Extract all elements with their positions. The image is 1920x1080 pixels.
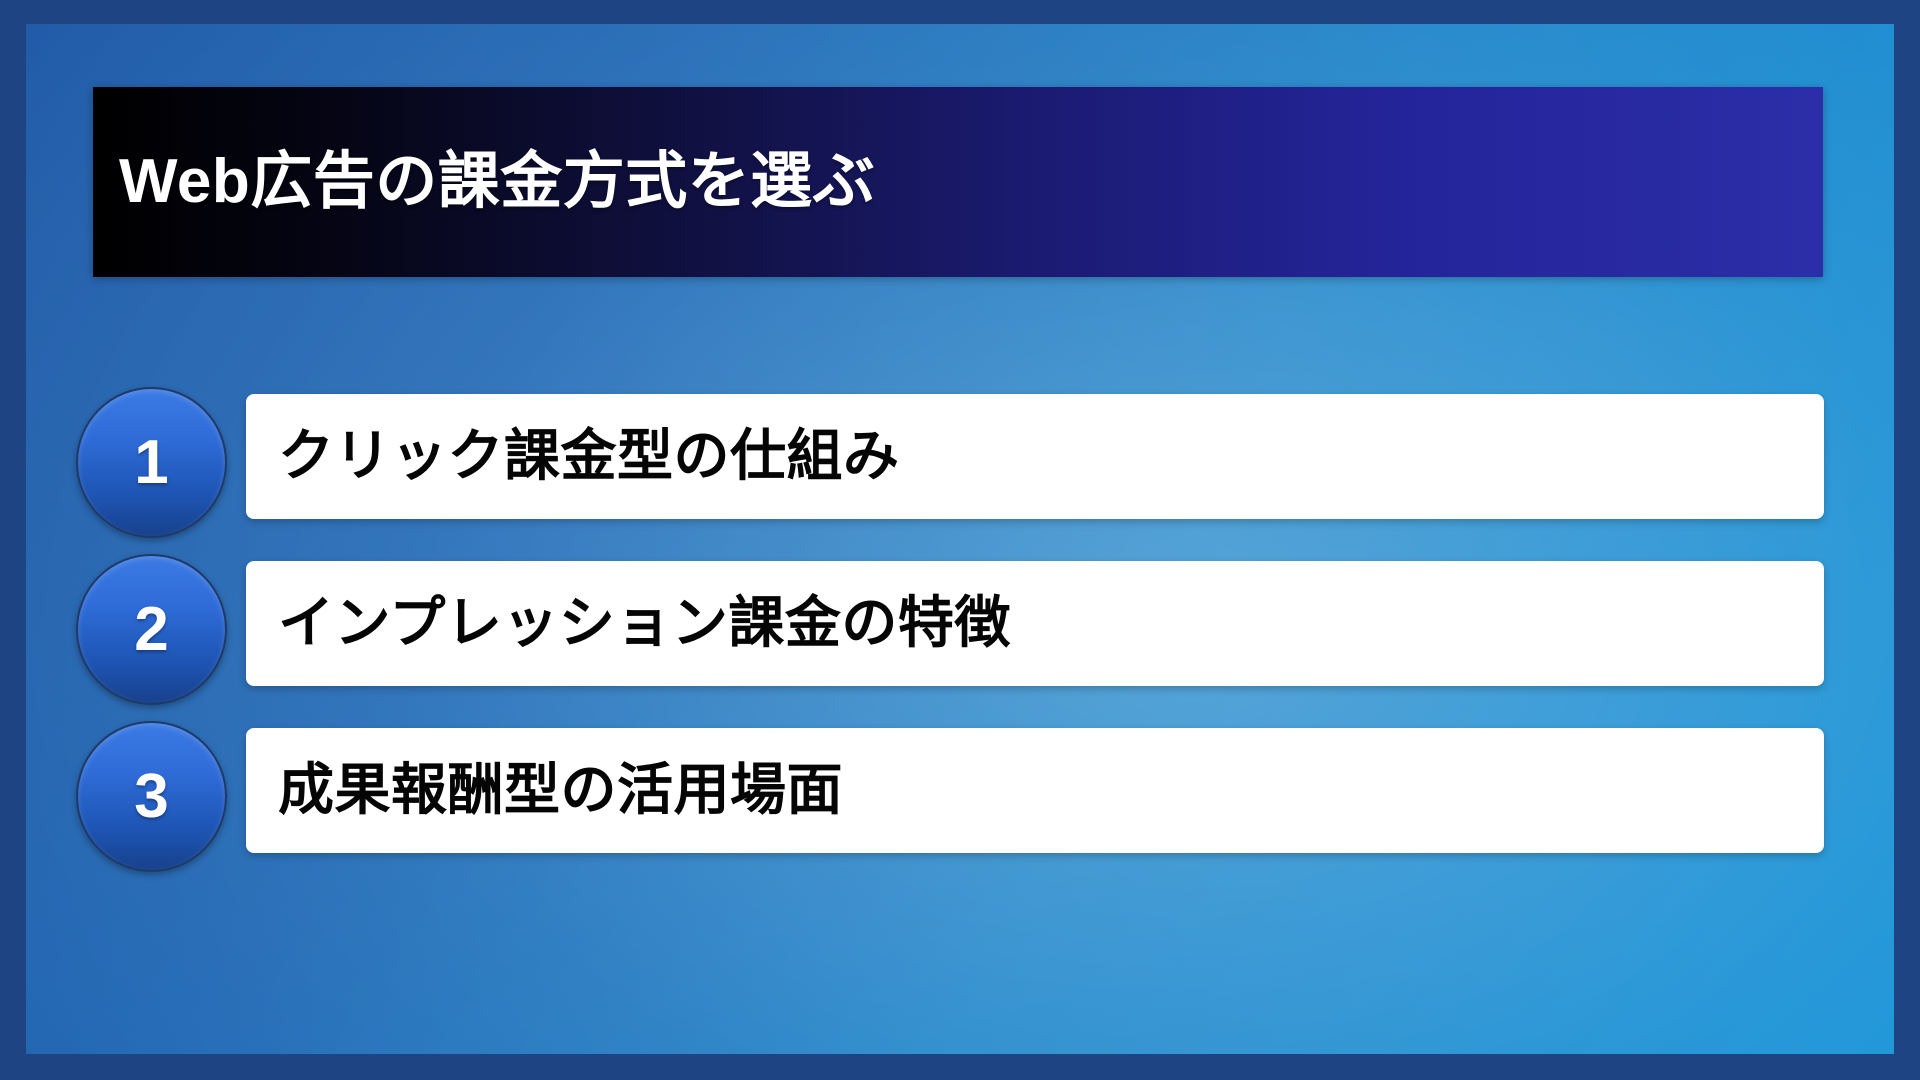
slide-root: Web広告の課金方式を選ぶ 1 クリック課金型の仕組み 2 インプレッション課金… [0,0,1920,1080]
list-item[interactable]: 3 成果報酬型の活用場面 [26,728,1894,853]
agenda-card-label: クリック課金型の仕組み [246,424,900,488]
page-title: Web広告の課金方式を選ぶ [93,148,875,216]
agenda-card-2[interactable]: インプレッション課金の特徴 [246,561,1824,686]
step-number-badge-1: 1 [76,387,227,538]
step-number-badge-3: 3 [76,721,227,872]
list-item[interactable]: 1 クリック課金型の仕組み [26,394,1894,519]
slide-canvas: Web広告の課金方式を選ぶ 1 クリック課金型の仕組み 2 インプレッション課金… [26,24,1894,1054]
step-number-label: 2 [134,599,168,661]
step-number-label: 3 [134,766,168,828]
title-bar: Web広告の課金方式を選ぶ [93,87,1823,277]
agenda-list: 1 クリック課金型の仕組み 2 インプレッション課金の特徴 3 [26,394,1894,895]
agenda-card-3[interactable]: 成果報酬型の活用場面 [246,728,1824,853]
step-number-label: 1 [134,432,168,494]
agenda-card-1[interactable]: クリック課金型の仕組み [246,394,1824,519]
agenda-card-label: 成果報酬型の活用場面 [246,758,843,822]
list-item[interactable]: 2 インプレッション課金の特徴 [26,561,1894,686]
step-number-badge-2: 2 [76,554,227,705]
agenda-card-label: インプレッション課金の特徴 [246,591,1011,655]
